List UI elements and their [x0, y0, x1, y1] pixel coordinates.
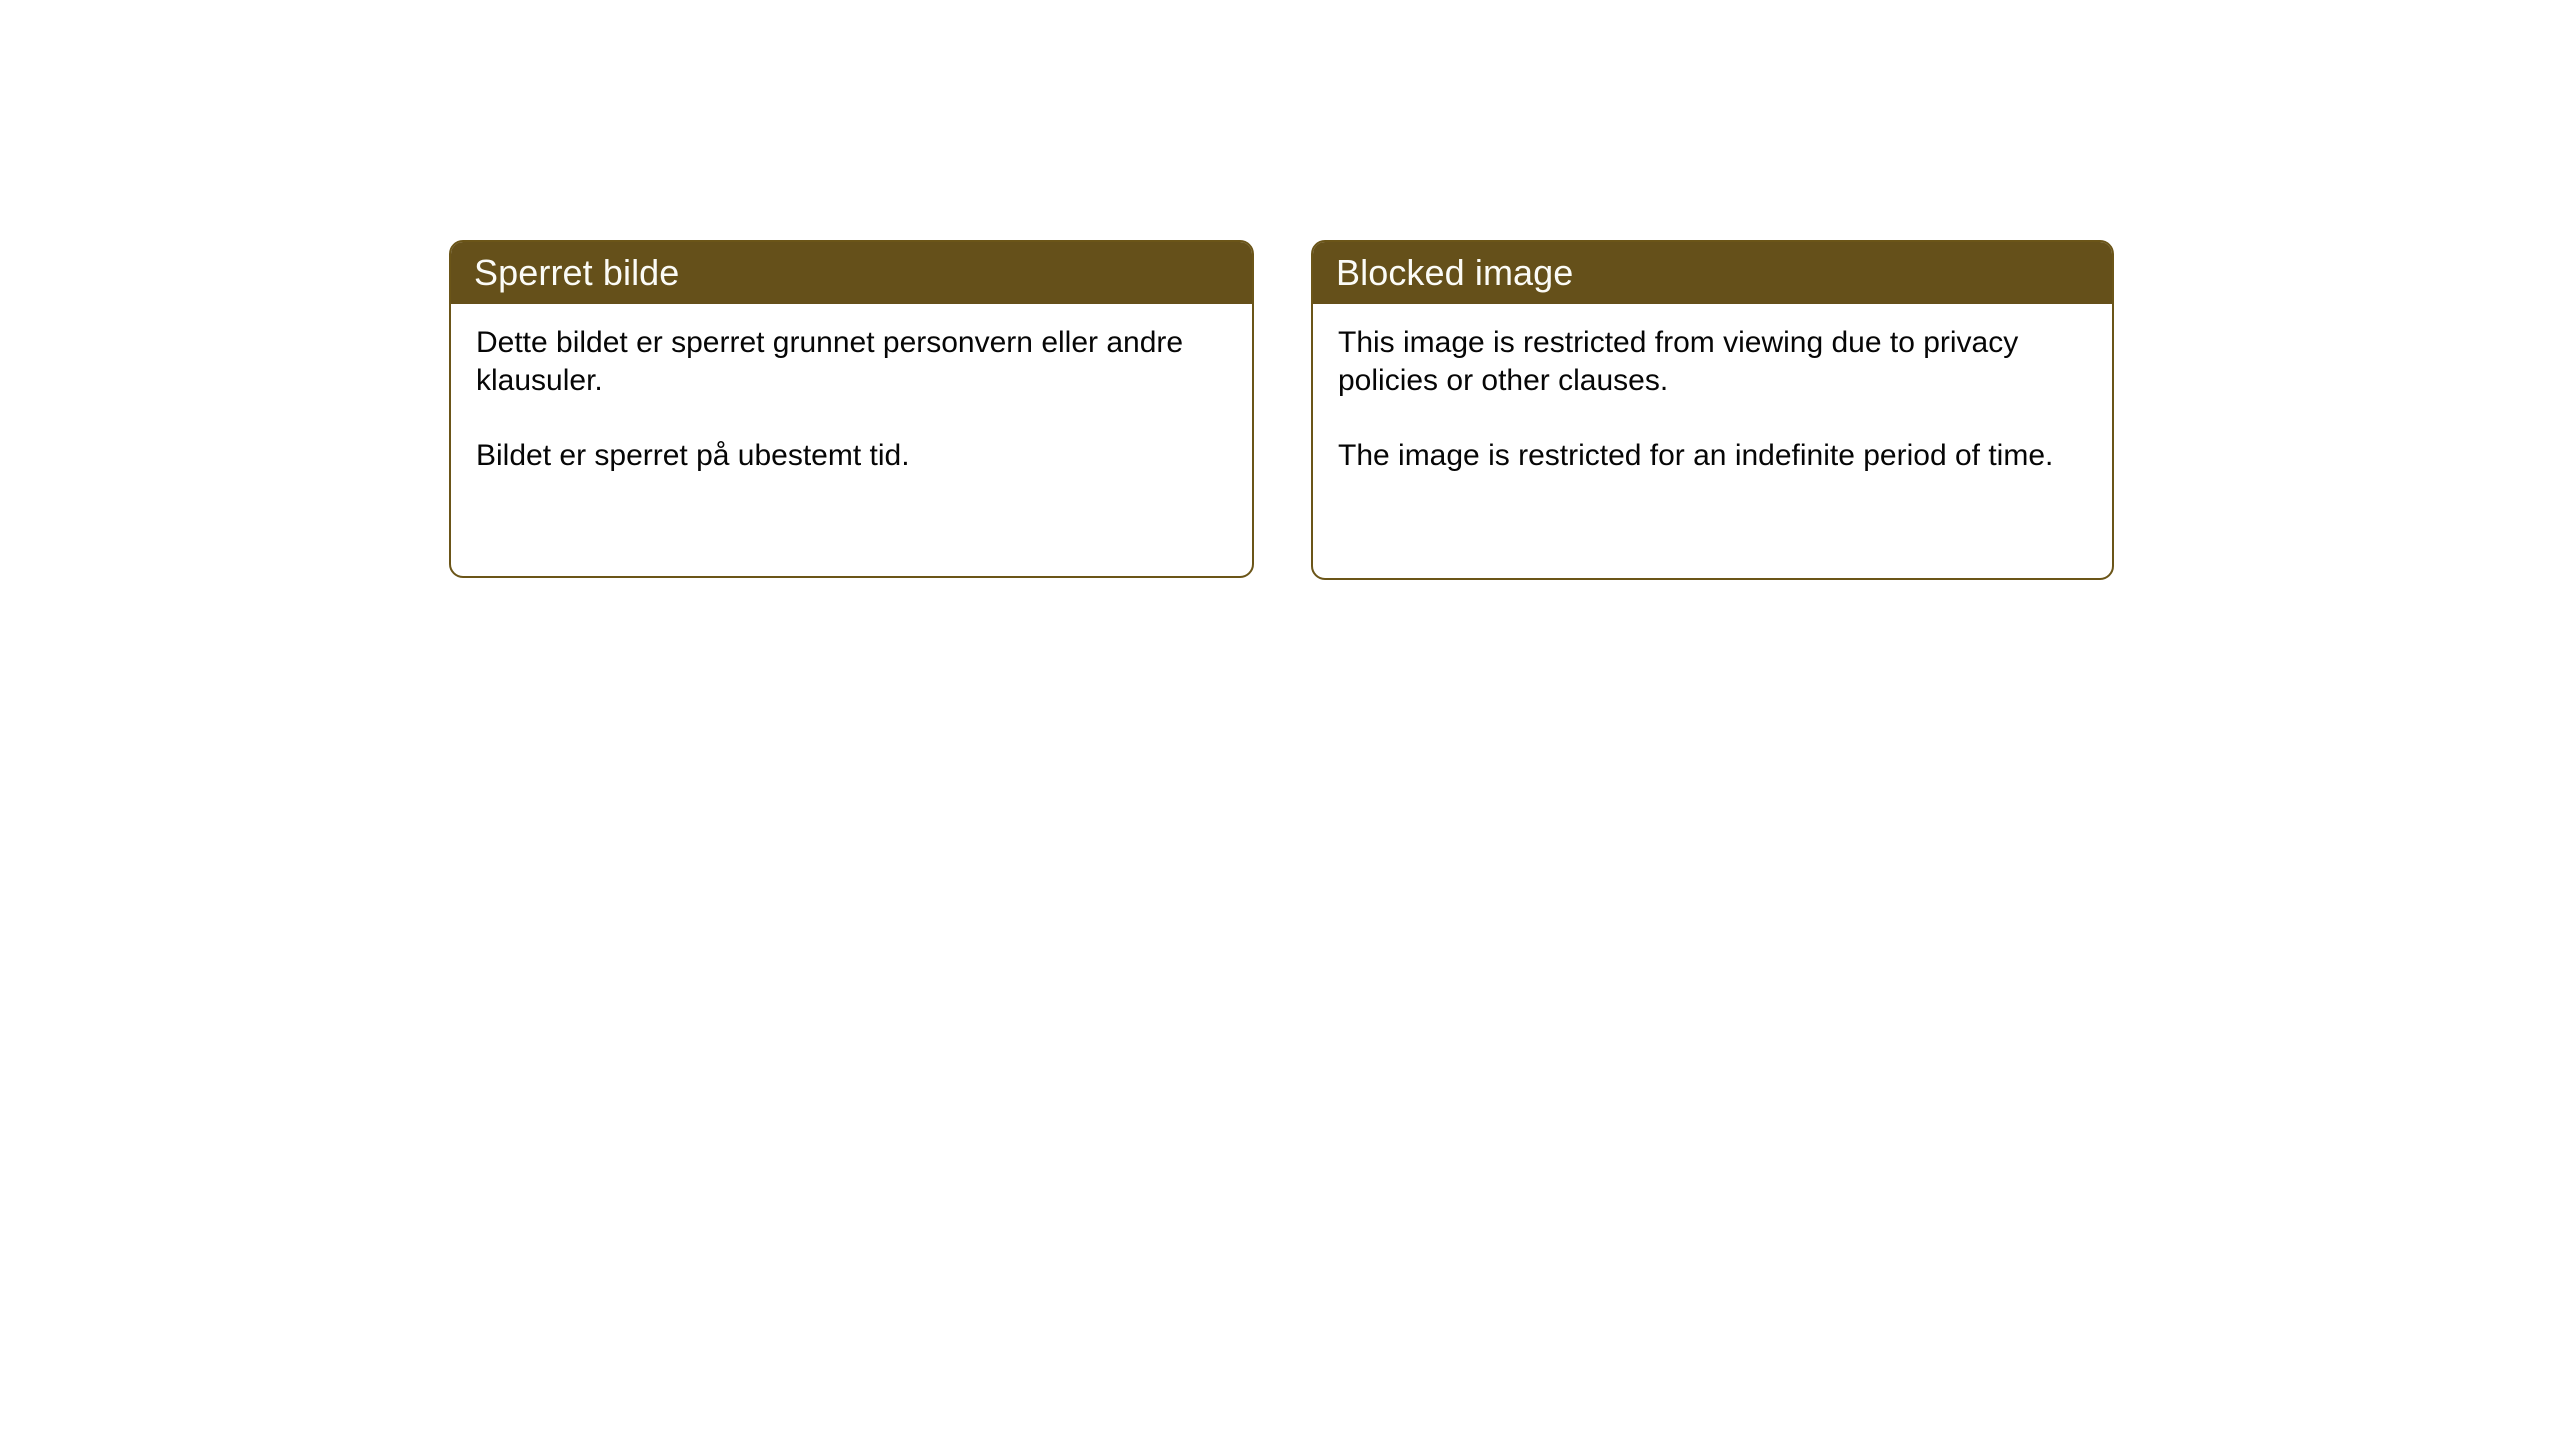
card-header-english: Blocked image [1313, 242, 2112, 304]
card-paragraph-reason-norwegian: Dette bildet er sperret grunnet personve… [476, 324, 1196, 401]
blocked-image-notice-card-norwegian: Sperret bilde Dette bildet er sperret gr… [449, 240, 1254, 578]
card-paragraph-duration-english: The image is restricted for an indefinit… [1338, 437, 2058, 475]
card-title-norwegian: Sperret bilde [474, 255, 679, 291]
card-header-norwegian: Sperret bilde [451, 242, 1252, 304]
card-body-english: This image is restricted from viewing du… [1313, 304, 2112, 475]
card-body-norwegian: Dette bildet er sperret grunnet personve… [451, 304, 1252, 475]
card-paragraph-duration-norwegian: Bildet er sperret på ubestemt tid. [476, 437, 1196, 475]
page-root: Sperret bilde Dette bildet er sperret gr… [0, 0, 2560, 1440]
blocked-image-notice-card-english: Blocked image This image is restricted f… [1311, 240, 2114, 580]
card-paragraph-reason-english: This image is restricted from viewing du… [1338, 324, 2058, 401]
card-title-english: Blocked image [1336, 255, 1573, 291]
